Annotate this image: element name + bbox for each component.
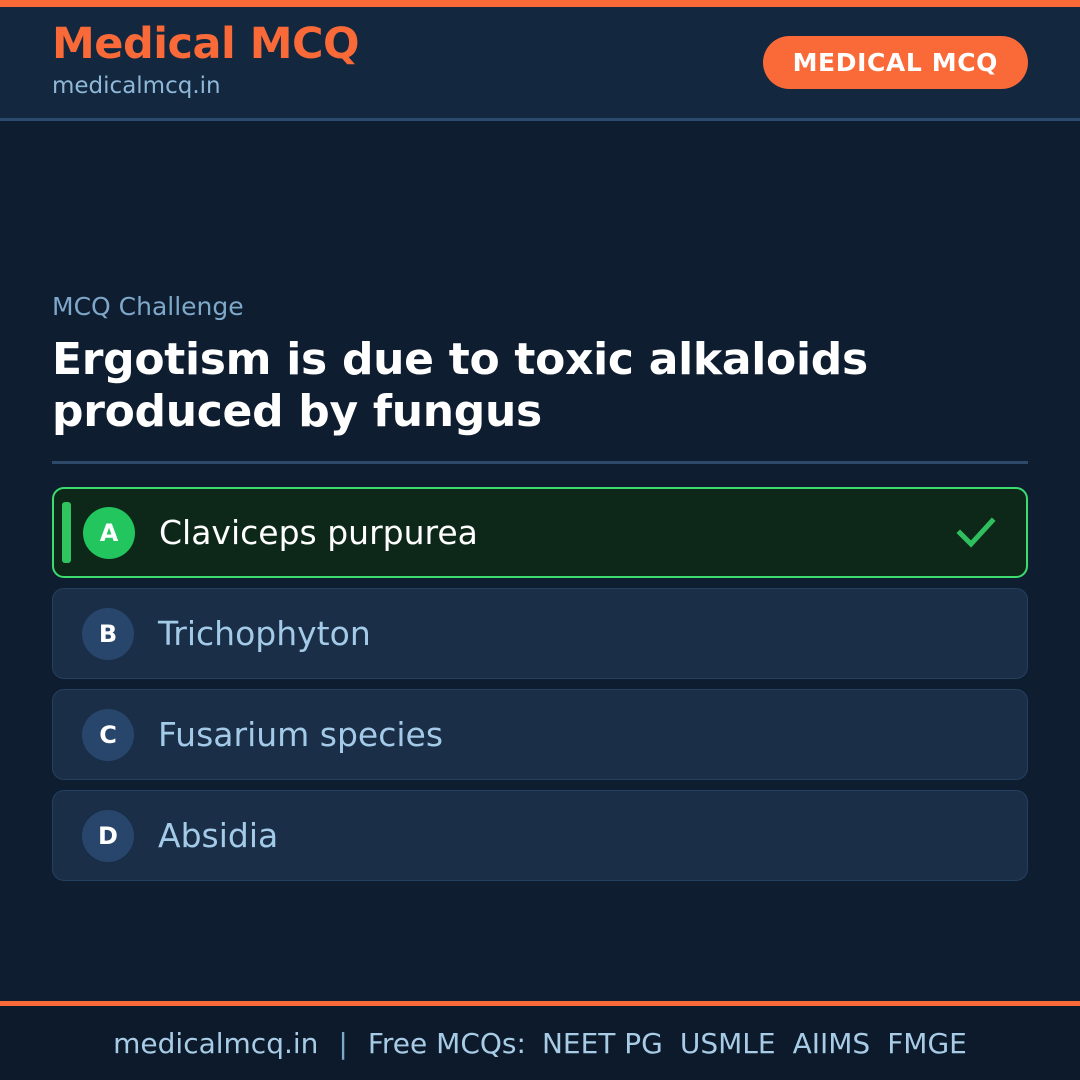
footer-exam-list: NEET PGUSMLEAIIMSFMGE: [542, 1027, 967, 1060]
footer: medicalmcq.in | Free MCQs: NEET PGUSMLEA…: [0, 1006, 1080, 1080]
brand: Medical MCQ medicalmcq.in: [52, 22, 359, 104]
option-letter-badge: B: [82, 608, 134, 660]
header-badge: MEDICAL MCQ: [763, 36, 1028, 89]
option-d[interactable]: DAbsidia: [52, 790, 1028, 881]
option-letter-badge: A: [83, 507, 135, 559]
option-text: Trichophyton: [158, 614, 1027, 654]
option-text: Fusarium species: [158, 715, 1027, 755]
mcq-card: Medical MCQ medicalmcq.in MEDICAL MCQ MC…: [0, 0, 1080, 1080]
option-c[interactable]: CFusarium species: [52, 689, 1028, 780]
option-letter-badge: C: [82, 709, 134, 761]
correct-check-icon: [956, 516, 996, 550]
option-a[interactable]: AClaviceps purpurea: [52, 487, 1028, 578]
top-accent-bar: [0, 0, 1080, 7]
footer-label: Free MCQs:: [368, 1027, 526, 1060]
footer-separator: |: [334, 1027, 351, 1060]
brand-subtitle: medicalmcq.in: [52, 69, 359, 104]
footer-exam: USMLE: [680, 1027, 776, 1060]
option-text: Absidia: [158, 816, 1027, 856]
question-block: MCQ Challenge Ergotism is due to toxic a…: [52, 291, 1028, 439]
footer-exam: FMGE: [887, 1027, 967, 1060]
header: Medical MCQ medicalmcq.in MEDICAL MCQ: [0, 7, 1080, 121]
option-letter-badge: D: [82, 810, 134, 862]
footer-inner: medicalmcq.in | Free MCQs: NEET PGUSMLEA…: [113, 1027, 967, 1060]
footer-site: medicalmcq.in: [113, 1027, 318, 1060]
main-content: MCQ Challenge Ergotism is due to toxic a…: [0, 121, 1080, 1001]
option-text: Claviceps purpurea: [159, 513, 956, 553]
question-divider: [52, 461, 1028, 464]
option-b[interactable]: BTrichophyton: [52, 588, 1028, 679]
question-text: Ergotism is due to toxic alkaloids produ…: [52, 334, 1028, 440]
brand-title: Medical MCQ: [52, 22, 359, 67]
question-kicker: MCQ Challenge: [52, 291, 1028, 324]
footer-exam: AIIMS: [793, 1027, 871, 1060]
options-list: AClaviceps purpureaBTrichophytonCFusariu…: [52, 487, 1028, 890]
footer-exam: NEET PG: [542, 1027, 663, 1060]
